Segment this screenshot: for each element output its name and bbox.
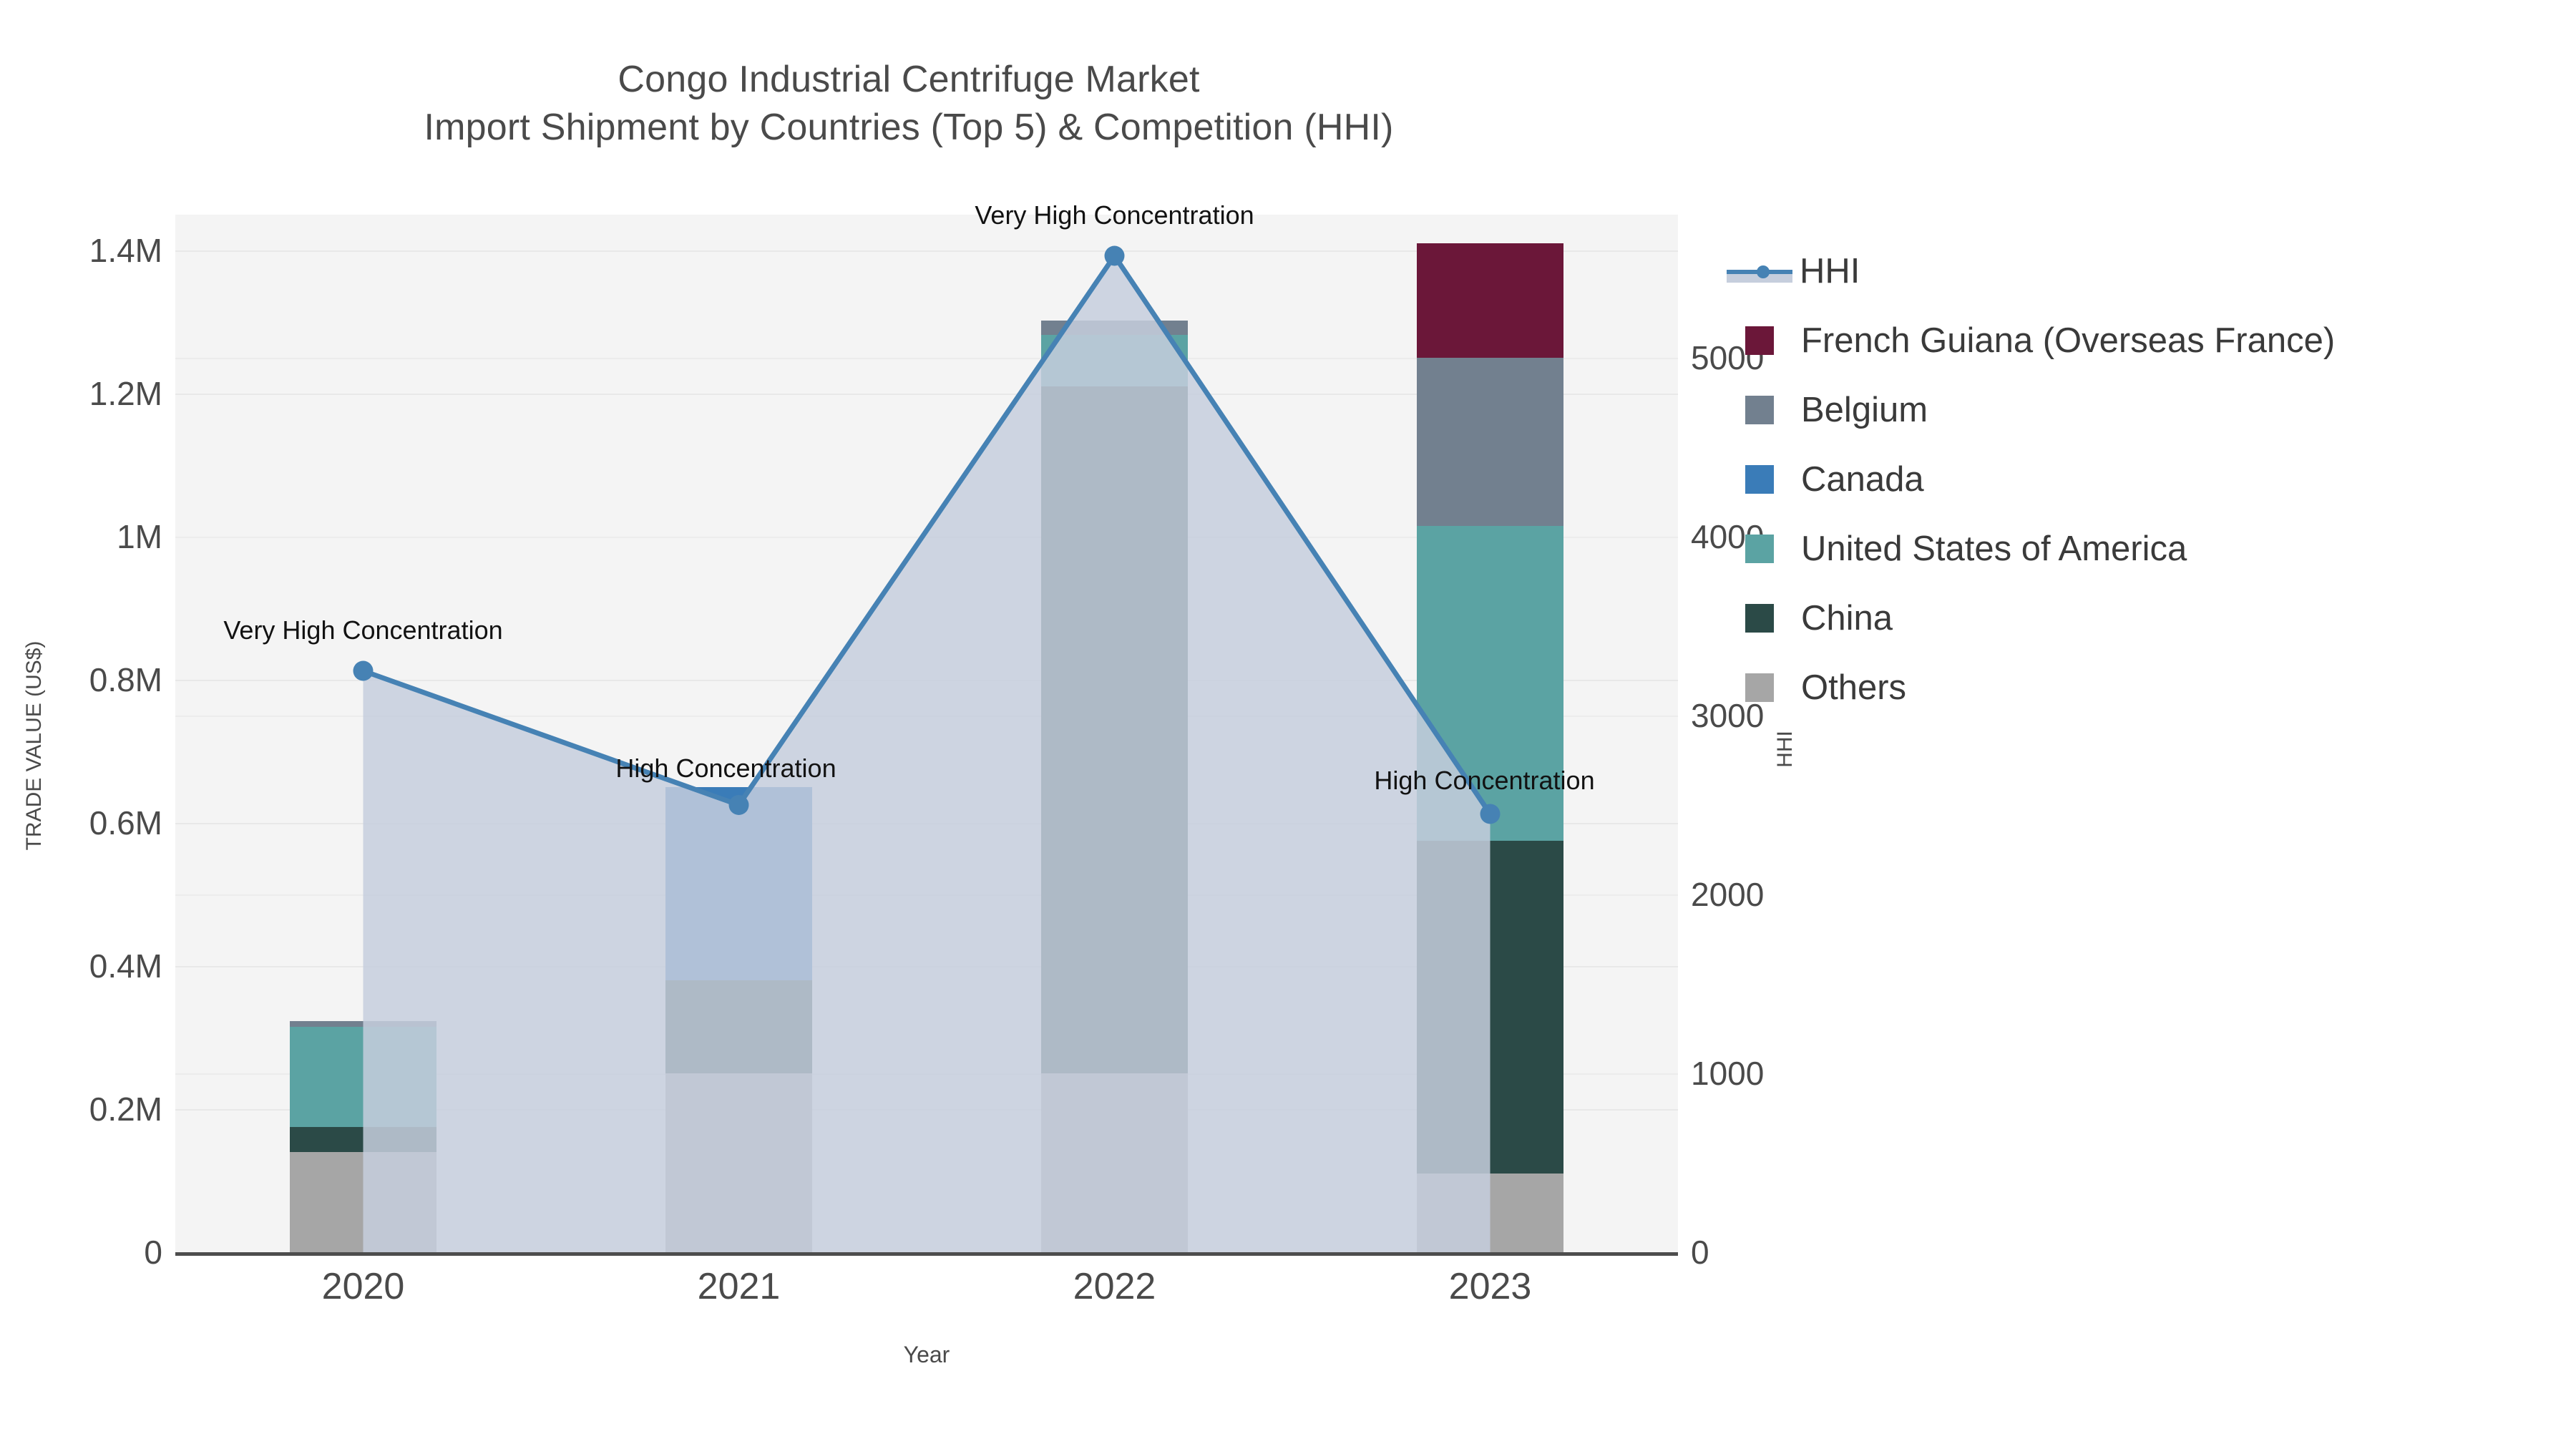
bar-segment[interactable]	[1041, 1073, 1188, 1252]
bar-segment[interactable]	[290, 1152, 436, 1252]
legend-item-united-states-of-america[interactable]: United States of America	[1735, 514, 2558, 583]
x-tick-label-2023: 2023	[1449, 1265, 1532, 1308]
legend-line-swatch	[1727, 257, 1792, 286]
y-tick-label: 1M	[0, 517, 162, 556]
y-tick-label: 1.4M	[0, 231, 162, 270]
legend-color-swatch	[1745, 465, 1774, 494]
chart-title: Congo Industrial Centrifuge Market	[0, 56, 1818, 104]
y-tick-label: 0.4M	[0, 947, 162, 985]
y-tick-label: 0	[0, 1233, 162, 1272]
y-tick-label: 1.2M	[0, 374, 162, 413]
legend-item-label: Canada	[1801, 459, 1924, 499]
bar-segment[interactable]	[1041, 321, 1188, 335]
bar-segment[interactable]	[290, 1021, 436, 1027]
y-axis-primary-label: TRADE VALUE (US$)	[22, 602, 47, 889]
legend-color-swatch	[1745, 673, 1774, 702]
bar-segment[interactable]	[1417, 1174, 1563, 1252]
legend: HHIFrench Guiana (Overseas France)Belgiu…	[1735, 236, 2558, 722]
legend-item-others[interactable]: Others	[1735, 653, 2558, 722]
bar-segment[interactable]	[665, 787, 812, 980]
x-tick-label-2021: 2021	[698, 1265, 781, 1308]
legend-item-label: HHI	[1800, 251, 1860, 291]
legend-color-swatch	[1745, 326, 1774, 355]
bar-group-2022[interactable]	[1041, 321, 1188, 1252]
legend-item-canada[interactable]: Canada	[1735, 444, 2558, 514]
legend-item-belgium[interactable]: Belgium	[1735, 375, 2558, 444]
bar-segment[interactable]	[290, 1027, 436, 1127]
legend-item-label: French Guiana (Overseas France)	[1801, 321, 2335, 361]
y2-tick-label: 2000	[1691, 875, 1877, 914]
bar-segment[interactable]	[290, 1127, 436, 1152]
x-axis-label: Year	[175, 1342, 1678, 1368]
legend-item-china[interactable]: China	[1735, 583, 2558, 653]
bar-group-2020[interactable]	[290, 1021, 436, 1252]
bar-segment[interactable]	[1417, 841, 1563, 1174]
plot-area	[175, 215, 1678, 1252]
hhi-annotation-2021: High Concentration	[615, 753, 836, 784]
chart-subtitle: Import Shipment by Countries (Top 5) & C…	[0, 104, 1818, 152]
bar-segment[interactable]	[1417, 358, 1563, 526]
legend-item-label: United States of America	[1801, 529, 2187, 569]
hhi-annotation-2020: Very High Concentration	[223, 615, 502, 645]
legend-item-label: Others	[1801, 668, 1906, 708]
bar-segment[interactable]	[1417, 243, 1563, 358]
bar-segment[interactable]	[1041, 386, 1188, 1073]
legend-item-french-guiana-overseas-france[interactable]: French Guiana (Overseas France)	[1735, 306, 2558, 375]
bar-segment[interactable]	[665, 980, 812, 1073]
x-tick-label-2020: 2020	[322, 1265, 405, 1308]
x-tick-label-2022: 2022	[1073, 1265, 1156, 1308]
legend-color-swatch	[1745, 396, 1774, 424]
y2-tick-label: 0	[1691, 1233, 1877, 1272]
legend-item-label: China	[1801, 598, 1893, 638]
chart-title-block: Congo Industrial Centrifuge Market Impor…	[0, 56, 1818, 151]
bar-segment[interactable]	[1041, 335, 1188, 386]
y2-tick-label: 1000	[1691, 1054, 1877, 1093]
bar-group-2023[interactable]	[1417, 243, 1563, 1252]
x-axis-line	[175, 1252, 1678, 1256]
y-tick-label: 0.2M	[0, 1090, 162, 1128]
hhi-annotation-2023: High Concentration	[1374, 766, 1594, 796]
bar-segment[interactable]	[665, 1073, 812, 1252]
legend-item-label: Belgium	[1801, 390, 1928, 430]
legend-item-hhi[interactable]: HHI	[1735, 236, 2558, 306]
hhi-annotation-2022: Very High Concentration	[975, 200, 1254, 230]
legend-color-swatch	[1745, 604, 1774, 633]
legend-color-swatch	[1745, 535, 1774, 563]
bar-group-2021[interactable]	[665, 787, 812, 1252]
